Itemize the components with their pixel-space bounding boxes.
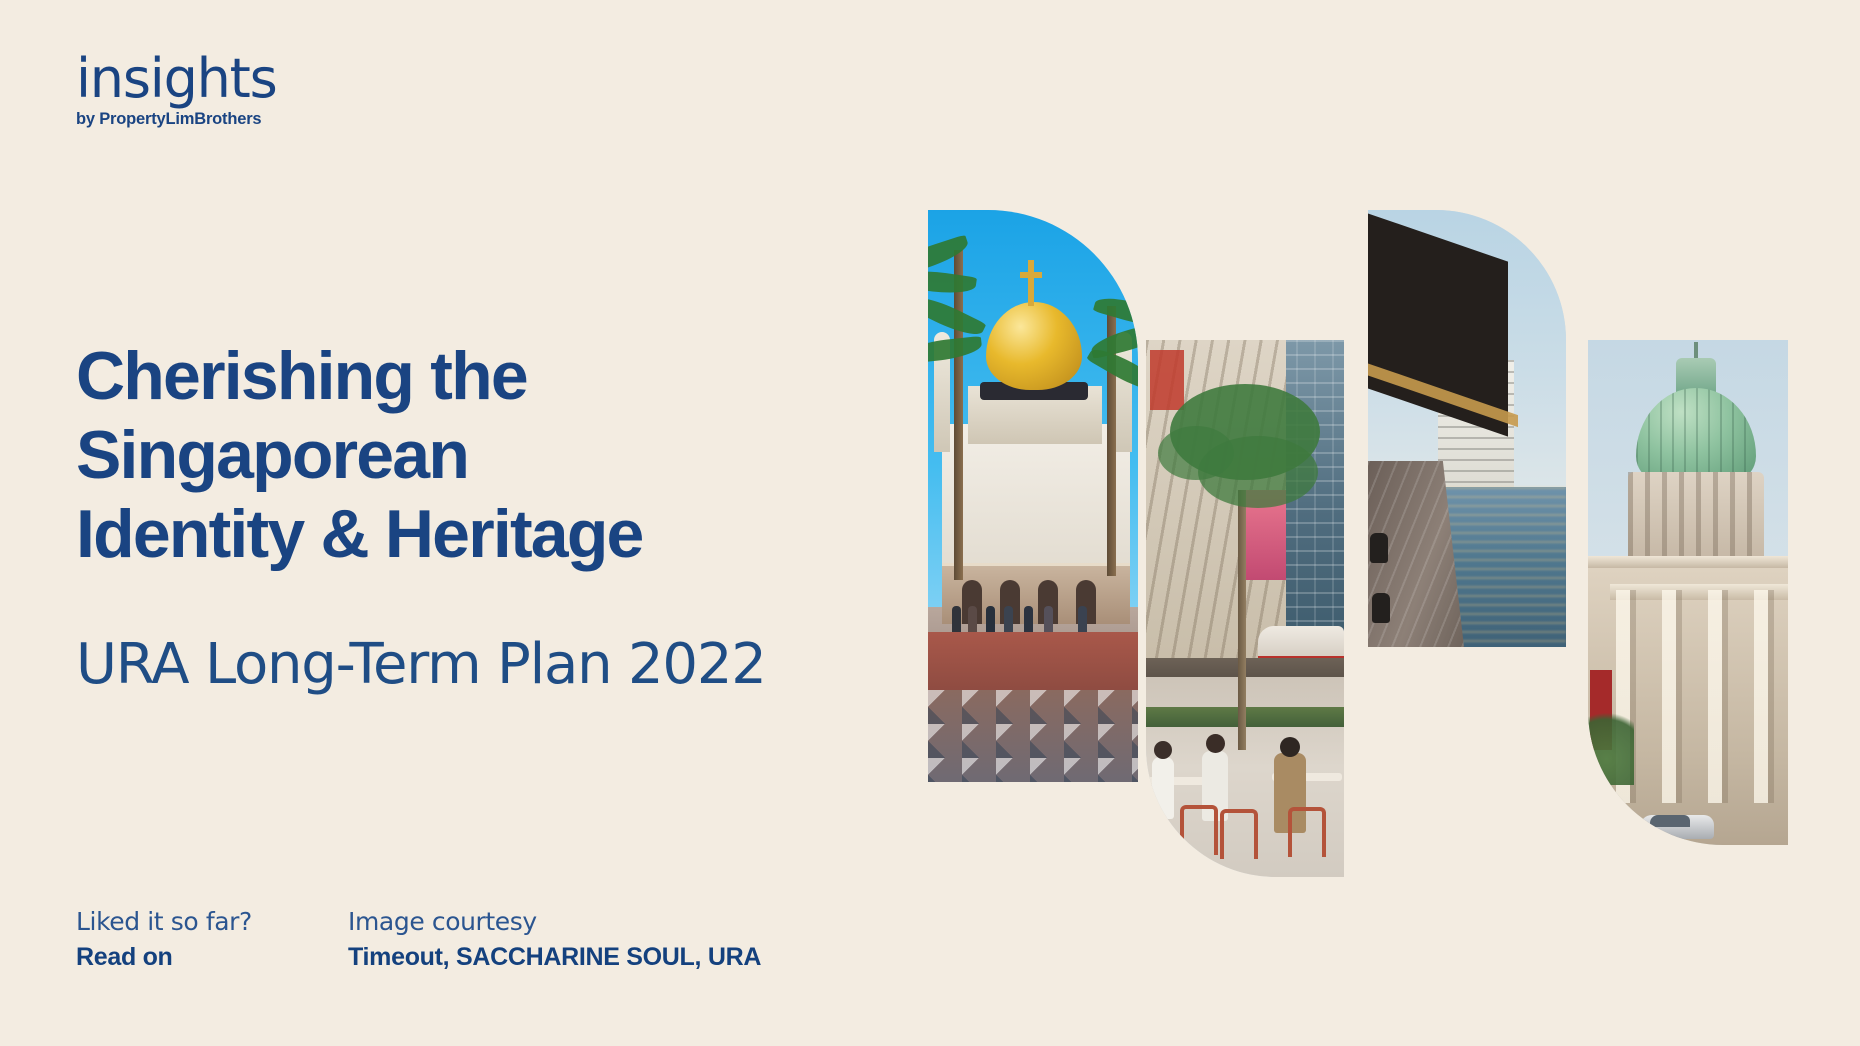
gallery-colonnade <box>1616 590 1788 803</box>
cafe-chair-1 <box>1180 805 1218 855</box>
image-collage <box>0 0 1860 1046</box>
pedestrian-7 <box>1078 606 1087 632</box>
cafe-person-2-head <box>1206 734 1225 753</box>
quay-bollard-2 <box>1370 533 1388 563</box>
mosque-red-walkway <box>928 632 1138 694</box>
pedestrian-1 <box>952 606 961 632</box>
plaza-scene <box>1146 340 1344 877</box>
palm-trunk-left <box>954 250 963 580</box>
mosque-sky <box>928 210 1138 782</box>
mosque-finial <box>1028 260 1034 306</box>
gallery-drum-columns <box>1628 472 1764 560</box>
cafe-chair-2 <box>1220 809 1258 859</box>
pedestrian-4 <box>1004 606 1013 632</box>
quay-bollard-1 <box>1372 593 1390 623</box>
pedestrian-6 <box>1044 606 1053 632</box>
plaza-tree-canopy-3 <box>1158 426 1234 480</box>
quay-scene <box>1368 210 1566 647</box>
mosque-golden-dome <box>986 302 1082 390</box>
collage-panel-sultan-mosque <box>928 210 1138 782</box>
palm-frond-2 <box>928 267 977 298</box>
gallery-dome-drum <box>1628 472 1764 560</box>
pedestrian-5 <box>1024 606 1033 632</box>
pedestrian-3 <box>986 606 995 632</box>
plaza-red-signage <box>1150 350 1184 410</box>
collage-panel-urban-plaza-cafe <box>1146 340 1344 877</box>
plaza-tree-trunk <box>1238 490 1246 750</box>
pedestrian-2 <box>968 606 977 632</box>
cafe-person-1 <box>1152 757 1174 819</box>
mosque-tiled-floor <box>928 690 1138 782</box>
poster-canvas: insights by PropertyLimBrothers Cherishi… <box>0 0 1860 1046</box>
gallery-palm-foliage <box>1588 699 1634 785</box>
collage-panel-national-gallery <box>1588 340 1788 845</box>
cafe-person-3-head <box>1280 737 1300 757</box>
cafe-person-1-head <box>1154 741 1172 759</box>
mosque-finial-cross <box>1020 272 1042 278</box>
gallery-scene <box>1588 340 1788 845</box>
collage-panel-river-quay-dusk <box>1368 210 1566 647</box>
gallery-car-window <box>1650 815 1690 827</box>
cafe-chair-3 <box>1288 807 1326 857</box>
